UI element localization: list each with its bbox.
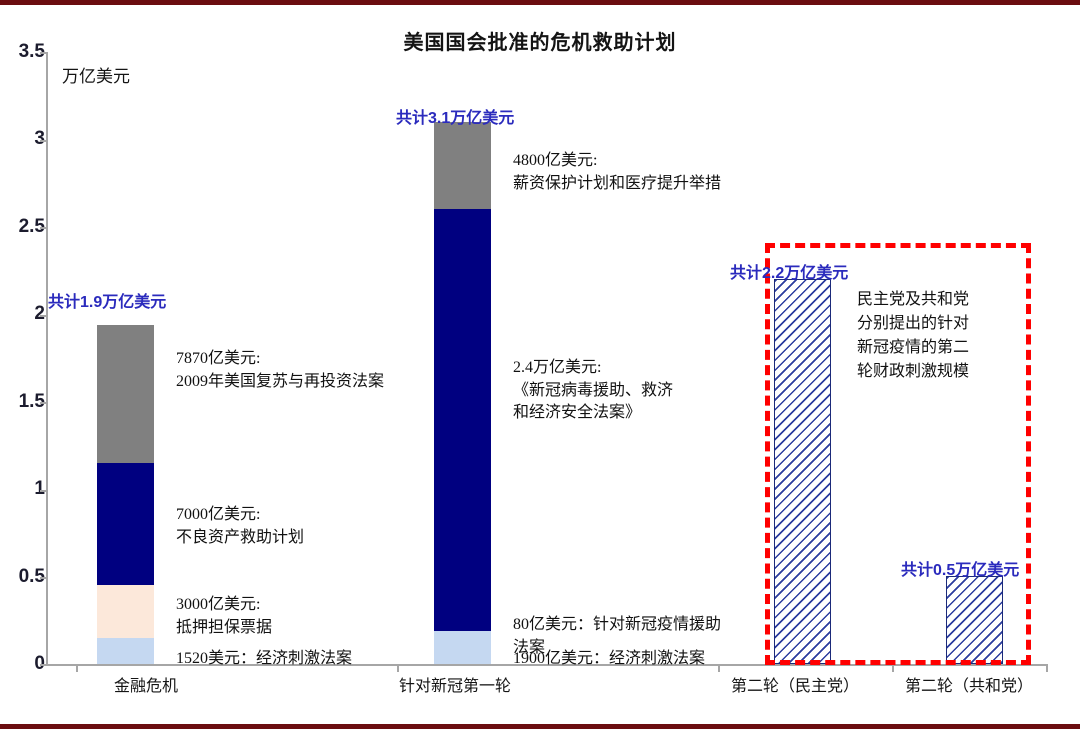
bar-segment-tarp-700b (97, 463, 154, 585)
y-tick-label-1: 1 (0, 478, 45, 500)
y-tick-label-2: 2 (0, 303, 45, 325)
total-label-round2-democrat: 共计2.2万亿美元 (730, 259, 848, 283)
x-axis-label-round2-republican: 第二轮（共和党） (879, 672, 1059, 696)
x-tick-mark-1 (397, 664, 399, 672)
highlight-box-note: 民主党及共和党 分别提出的针对 新冠疫情的第二 轮财政刺激规模 (857, 288, 1007, 384)
bottom-frame-rule (0, 724, 1080, 729)
bar-segment-arra-787b (97, 325, 154, 463)
x-axis-label-financial-crisis: 金融危机 (46, 672, 246, 696)
bar-segment-mbs-300b (97, 585, 154, 638)
y-tick-label-3: 3 (0, 128, 45, 150)
annotation-cares-2400b: 2.4万亿美元: 《新冠病毒援助、救济 和经济安全法案》 (513, 357, 673, 425)
chart-canvas: 美国国会批准的危机救助计划 万亿美元 3.5 3 2.5 2 1.5 1 0.5… (0, 0, 1080, 740)
total-label-covid-round1: 共计3.1万亿美元 (396, 104, 514, 128)
y-tick-label-1.5: 1.5 (0, 391, 45, 413)
annotation-stimulus-190b: 1900亿美元：经济刺激法案 (513, 648, 705, 671)
y-tick-label-0: 0 (0, 653, 45, 675)
y-tick-mark-0.5 (40, 577, 48, 579)
annotation-tarp-700b: 7000亿美元: 不良资产救助计划 (176, 504, 304, 549)
bar-segment-stimulus-152 (97, 638, 154, 664)
x-tick-mark-2 (718, 664, 720, 672)
annotation-ppp-480b: 4800亿美元: 薪资保护计划和医疗提升举措 (513, 150, 721, 195)
y-tick-mark-3 (40, 140, 48, 142)
annotation-mbs-300b: 3000亿美元: 抵押担保票据 (176, 594, 272, 639)
y-tick-label-2.5: 2.5 (0, 216, 45, 238)
x-tick-mark-0 (76, 664, 78, 672)
x-axis-label-covid-round1: 针对新冠第一轮 (355, 672, 555, 696)
bar-financial-crisis (97, 325, 154, 664)
y-tick-label-0.5: 0.5 (0, 566, 45, 588)
x-tick-mark-4 (1046, 664, 1048, 672)
y-tick-mark-1 (40, 490, 48, 492)
top-frame-rule (0, 0, 1080, 5)
total-label-round2-republican: 共计0.5万亿美元 (901, 556, 1019, 580)
x-axis-label-round2-democrat: 第二轮（民主党） (705, 672, 885, 696)
x-tick-mark-3 (892, 664, 894, 672)
bar-segment-ppp-480b (434, 122, 491, 209)
annotation-arra-787b: 7870亿美元: 2009年美国复苏与再投资法案 (176, 348, 384, 393)
bar-covid-round1 (434, 122, 491, 664)
y-tick-label-3.5: 3.5 (0, 41, 45, 63)
annotation-stimulus-152: 1520美元：经济刺激法案 (176, 648, 352, 671)
chart-title: 美国国会批准的危机救助计划 (0, 26, 1080, 55)
y-tick-mark-2.5 (40, 227, 48, 229)
bar-segment-stimulus-190b (434, 631, 491, 664)
y-tick-mark-1.5 (40, 402, 48, 404)
y-axis-unit-label: 万亿美元 (62, 62, 130, 87)
y-axis-line (46, 52, 48, 665)
y-tick-mark-2 (40, 315, 48, 317)
total-label-financial-crisis: 共计1.9万亿美元 (48, 288, 166, 312)
bar-segment-cares-2400b (434, 209, 491, 631)
y-tick-mark-3.5 (40, 52, 48, 54)
